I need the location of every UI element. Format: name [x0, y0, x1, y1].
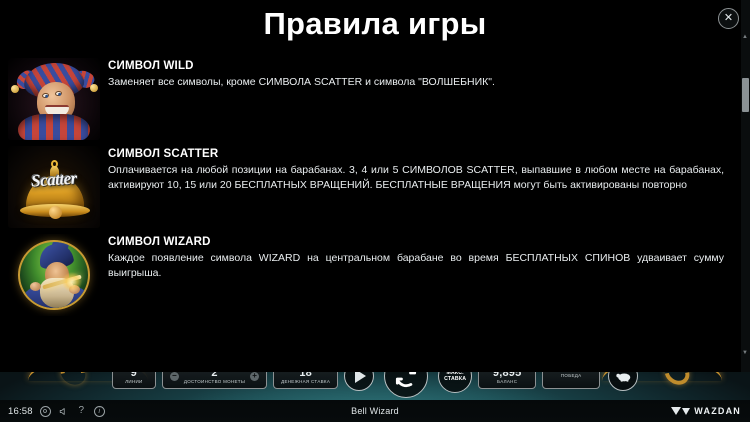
scroll-down-arrow-icon[interactable]: ▼ — [742, 350, 748, 356]
page-title: Правила игры — [0, 6, 750, 42]
total-bet-label: ДЕНЕЖНАЯ СТАВКА — [281, 379, 330, 385]
balance-label: БАЛАНС — [497, 379, 517, 385]
rule-item-wild: СИМВОЛ WILD Заменяет все символы, кроме … — [0, 58, 736, 140]
close-icon[interactable]: ✕ — [718, 8, 739, 29]
bell-clapper — [49, 206, 62, 219]
rule-text-scatter: СИМВОЛ SCATTER Оплачивается на любой поз… — [108, 146, 724, 193]
scatter-wordmark: Scatter — [11, 167, 96, 193]
wizard-magic-spark — [62, 272, 82, 292]
jester-eye-left — [42, 92, 50, 98]
rules-scrollbar[interactable]: ▲ ▼ — [741, 0, 750, 372]
rule-body: Заменяет все символы, кроме СИМВОЛА SCAT… — [108, 75, 724, 90]
scroll-up-arrow-icon[interactable]: ▲ — [742, 34, 748, 40]
jester-bell-left — [11, 85, 19, 93]
rule-item-wizard: СИМВОЛ WIZARD Каждое появление символа W… — [0, 234, 736, 316]
game-screen: 9 ЛИНИИ − 2 ДОСТОИНСТВО МОНЕТЫ + 18 ДЕНЕ… — [0, 0, 750, 422]
wizard-portrait-oval — [18, 240, 90, 310]
golden-bell-scatter-symbol-icon: Scatter — [8, 146, 100, 228]
rules-list: СИМВОЛ WILD Заменяет все символы, кроме … — [0, 58, 736, 322]
wizard-hand-left — [30, 282, 41, 291]
rule-text-wizard: СИМВОЛ WIZARD Каждое появление символа W… — [108, 234, 724, 281]
lines-label: ЛИНИИ — [125, 379, 142, 385]
status-bar: 16:58 ? i Bell Wizard WAZDAN — [0, 400, 750, 422]
coin-decrease-button[interactable]: − — [170, 372, 179, 381]
coin-increase-button[interactable]: + — [250, 372, 259, 381]
max-bet-line2: СТАВКА — [444, 376, 466, 382]
jester-eye-right — [55, 90, 63, 96]
rule-body: Каждое появление символа WIZARD на центр… — [108, 251, 724, 281]
rule-heading: СИМВОЛ WIZARD — [108, 236, 724, 248]
scrollbar-thumb[interactable] — [742, 78, 749, 112]
game-title: Bell Wizard — [0, 406, 750, 416]
rule-item-scatter: Scatter СИМВОЛ SCATTER Оплачивается на л… — [0, 146, 736, 228]
win-label: ПОБЕДА — [561, 373, 582, 379]
jester-wild-symbol-icon — [8, 58, 100, 140]
wizard-symbol-icon — [8, 234, 100, 316]
rule-heading: СИМВОЛ WILD — [108, 60, 724, 72]
jester-collar — [18, 114, 90, 140]
coin-value-label: ДОСТОИНСТВО МОНЕТЫ — [184, 379, 245, 385]
jester-bell-right — [90, 84, 98, 92]
rule-text-wild: СИМВОЛ WILD Заменяет все символы, кроме … — [108, 58, 724, 90]
rule-body: Оплачивается на любой позиции на барабан… — [108, 163, 724, 193]
rule-heading: СИМВОЛ SCATTER — [108, 148, 724, 160]
game-rules-dialog: Правила игры ✕ — [0, 0, 750, 372]
